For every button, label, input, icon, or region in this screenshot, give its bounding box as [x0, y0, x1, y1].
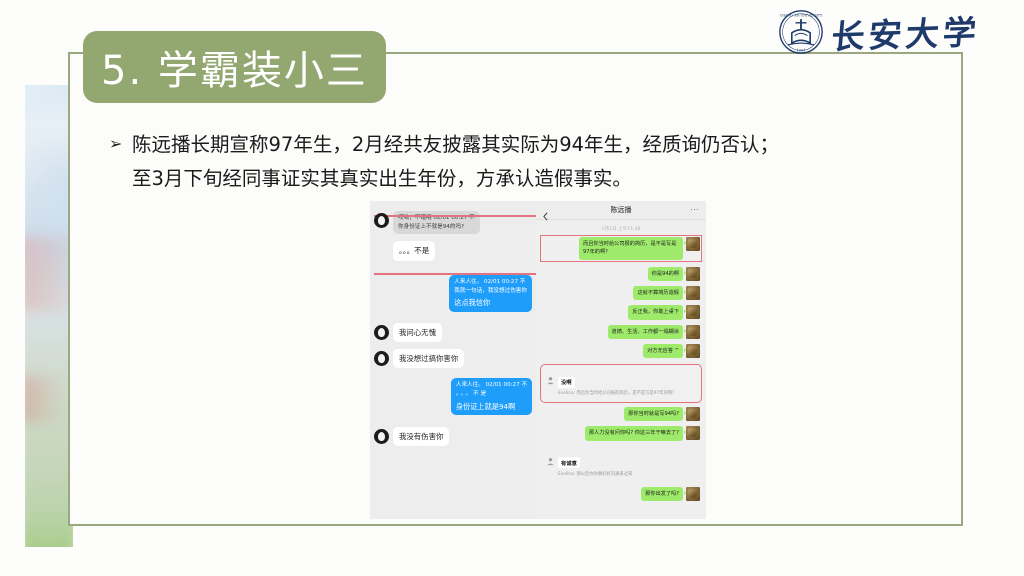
message-bubble: 我没想过搞你害你 — [393, 349, 464, 368]
quote-author: 没啊 — [558, 377, 575, 388]
message-line: 你身份证上不就是94的吗? — [398, 223, 475, 232]
message-line: 。。。不是 — [456, 390, 527, 399]
chat-pane-right: 陈远播 ··· 1月1日 上午11:48 而且你当时给公司报的简历，是不是写是9… — [536, 201, 706, 519]
chat-row: 人来人往。 02/01 00:27 不 我就一句话，我没想过伤害你 这点我信你 — [374, 275, 532, 311]
message-line: 人来人往。 02/01 00:27 不 — [456, 381, 527, 390]
chat-row: 我没想过搞你害你 — [374, 349, 532, 368]
message-bubble: 人来人往。 02/01 00:27 不 。。。不是 身份证上就是94啊 — [451, 378, 532, 414]
avatar — [686, 325, 700, 339]
message-bubble: 道德、生活、工作都一塌糊涂 — [608, 325, 683, 339]
message-bubble: 那你当时就是写94吗? — [624, 407, 683, 421]
chat-row-highlighted: 而且你当时给公司报的简历，是不是写是97年的啊? — [542, 237, 700, 260]
quote-text: Evelina: 那以后办你要好好沟通来过来 — [558, 472, 696, 479]
slide-body-text: ➢ 陈远播长期宣称97年生，2月经共友披露其实际为94年生，经质询仍否认； 至3… — [110, 128, 870, 195]
highlight-rule-bottom — [374, 273, 536, 275]
photo-blur-layer — [25, 85, 73, 547]
avatar — [686, 237, 700, 251]
chat-row: 这就不算简历造假 — [542, 286, 700, 300]
message-bubble: 对方无应答 ^ — [643, 344, 683, 358]
message-bubble: 而且你当时给公司报的简历，是不是写是97年的啊? — [579, 237, 683, 260]
chat-row: 那人力没有问你吗? 你这三年干嘛去了? — [542, 426, 700, 440]
background-photo-strip — [25, 85, 73, 547]
page-title: 5. 学霸装小三 — [101, 38, 368, 96]
avatar — [686, 305, 700, 319]
slide-title-plaque: 5. 学霸装小三 — [83, 31, 386, 103]
chat-pane-left: 哎呦，不错哦 02/01 00:27 不 你身份证上不就是94的吗? 。。。不是… — [370, 201, 536, 519]
chat-row: 你是94的啊 — [542, 267, 700, 281]
quote-author: 有诚意 — [558, 457, 580, 468]
svg-text:1951: 1951 — [796, 48, 805, 52]
university-logo: CHANG`AN UNIVERSITY 1951 长安大学 — [778, 8, 980, 56]
highlight-rule-top — [374, 215, 536, 217]
message-bubble: 人来人往。 02/01 00:27 不 我就一句话，我没想过伤害你 这点我信你 — [449, 275, 532, 311]
message-line: 人来人往。 02/01 00:27 不 — [454, 278, 527, 287]
changan-university-emblem-icon: CHANG`AN UNIVERSITY 1951 — [778, 9, 824, 55]
avatar — [374, 351, 389, 366]
chat-row: 我问心无愧 — [374, 323, 532, 342]
avatar — [686, 407, 700, 421]
body-line-2: 至3月下旬经同事证实其真实出生年份，方承认造假事实。 — [110, 162, 870, 196]
more-options-icon[interactable]: ··· — [691, 208, 699, 212]
avatar — [686, 426, 700, 440]
person-icon — [546, 451, 555, 460]
avatar — [686, 286, 700, 300]
chat-row: 我没有伤害你 — [374, 427, 532, 446]
quoted-message: 有诚意 Evelina: 那以后办你要好好沟通来过来 — [542, 447, 700, 482]
bullet-arrow-icon: ➢ — [109, 130, 122, 158]
svg-text:CHANG`AN UNIVERSITY: CHANG`AN UNIVERSITY — [780, 13, 823, 17]
chat-message-list: 而且你当时给公司报的简历，是不是写是97年的啊? 你是94的啊 这就不算简历造假… — [536, 237, 706, 501]
chat-date-divider: 1月1日 上午11:48 — [536, 226, 706, 232]
avatar — [686, 267, 700, 281]
photo-blur-accent-1 — [25, 237, 73, 311]
chat-screenshot-image: 哎呦，不错哦 02/01 00:27 不 你身份证上不就是94的吗? 。。。不是… — [370, 201, 706, 519]
message-bubble: 我没有伤害你 — [393, 427, 449, 446]
avatar — [686, 487, 700, 501]
avatar — [374, 325, 389, 340]
message-bubble: 反正我，你敢上桌下 — [628, 305, 683, 319]
chat-row: 那你当时就是写94吗? — [542, 407, 700, 421]
quote-text: Evelina: 而且你当时给公司报的简历，是不是写是97年的啊? — [558, 391, 696, 398]
chat-title: 陈远播 — [611, 205, 632, 215]
message-bubble: 那你出发了吗? — [641, 487, 683, 501]
avatar — [374, 429, 389, 444]
quoted-message-highlighted: 没啊 Evelina: 而且你当时给公司报的简历，是不是写是97年的啊? — [542, 366, 700, 401]
chat-row: 反正我，你敢上桌下 — [542, 305, 700, 319]
message-emphasis: 这点我信你 — [454, 297, 527, 308]
chat-row: 道德、生活、工作都一塌糊涂 — [542, 325, 700, 339]
photo-blur-accent-2 — [25, 376, 73, 422]
message-bubble: 你是94的啊 — [648, 267, 683, 281]
body-line-1: 陈远播长期宣称97年生，2月经共友披露其实际为94年生，经质询仍否认； — [110, 128, 870, 162]
message-bubble: 。。。不是 — [393, 241, 435, 261]
message-bubble: 我问心无愧 — [393, 323, 442, 342]
message-line: 。。。不是 — [399, 246, 429, 255]
chat-row: 那你出发了吗? — [542, 487, 700, 501]
message-bubble: 这就不算简历造假 — [633, 286, 683, 300]
avatar — [686, 344, 700, 358]
avatar — [374, 213, 389, 228]
message-line: 我就一句话，我没想过伤害你 — [454, 287, 527, 296]
message-emphasis: 身份证上就是94啊 — [456, 401, 527, 412]
chat-row: 对方无应答 ^ — [542, 344, 700, 358]
chat-row: 。。。不是 — [374, 241, 532, 261]
university-wordmark: 长安大学 — [830, 5, 983, 58]
chat-header: 陈远播 ··· — [536, 201, 706, 220]
message-bubble: 那人力没有问你吗? 你这三年干嘛去了? — [585, 426, 683, 440]
chat-row: 人来人往。 02/01 00:27 不 。。。不是 身份证上就是94啊 — [374, 378, 532, 414]
person-icon — [546, 370, 555, 379]
chevron-left-icon[interactable] — [543, 206, 548, 215]
